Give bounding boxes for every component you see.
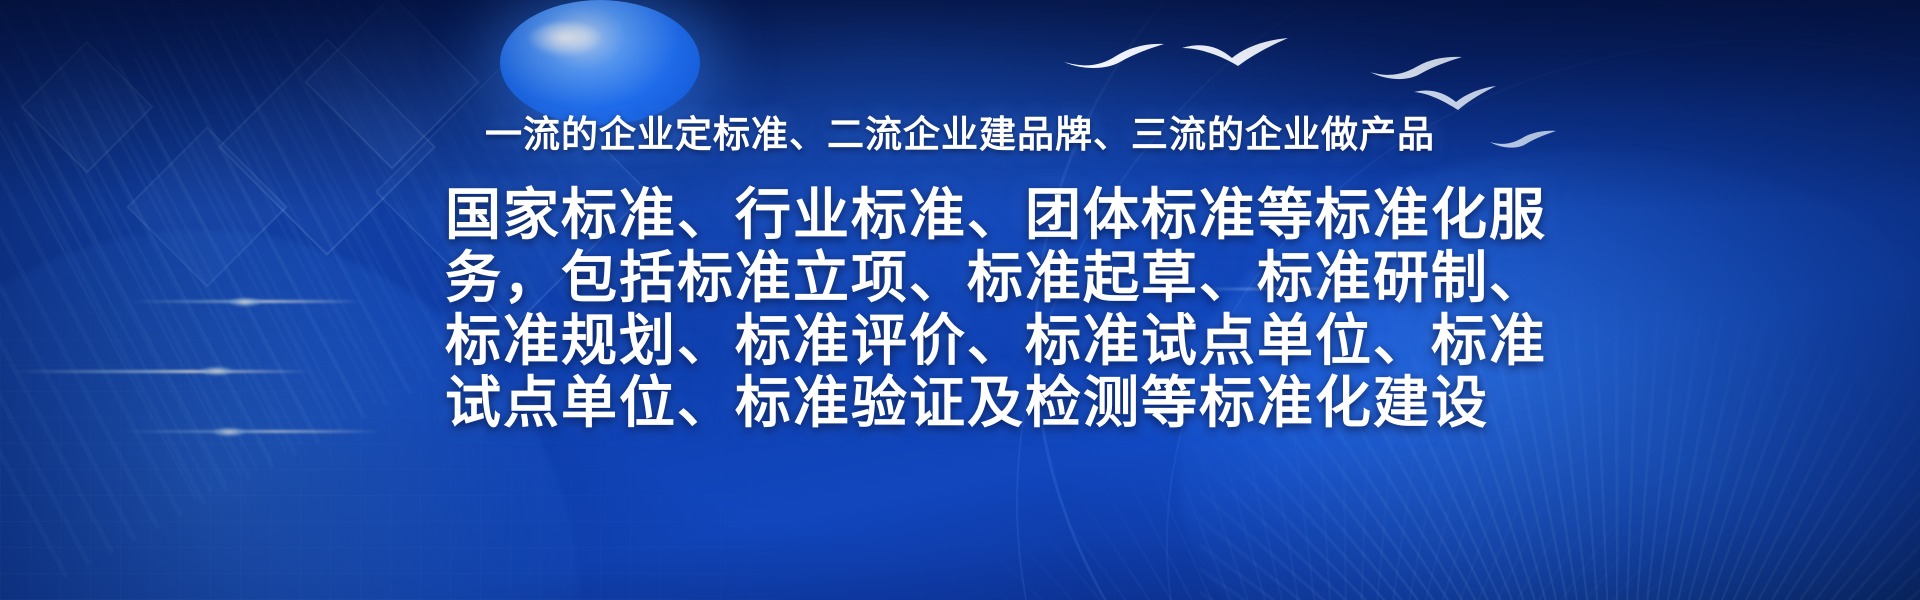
banner-body-line-3: 标准规划、标准评价、标准试点单位、标准 (445, 310, 1475, 373)
banner-body-line-2: 务，包括标准立项、标准起草、标准研制、 (445, 247, 1475, 310)
banner-body-text: 国家标准、行业标准、团体标准等标准化服 务，包括标准立项、标准起草、标准研制、 … (445, 184, 1475, 435)
banner-text-block: 一流的企业定标准、二流企业建品牌、三流的企业做产品 国家标准、行业标准、团体标准… (0, 0, 1920, 600)
banner-headline: 一流的企业定标准、二流企业建品牌、三流的企业做产品 (485, 112, 1435, 158)
banner-body-line-4: 试点单位、标准验证及检测等标准化建设 (445, 372, 1475, 435)
standardization-service-banner: 一流的企业定标准、二流企业建品牌、三流的企业做产品 国家标准、行业标准、团体标准… (0, 0, 1920, 600)
banner-body-line-1: 国家标准、行业标准、团体标准等标准化服 (445, 184, 1475, 247)
